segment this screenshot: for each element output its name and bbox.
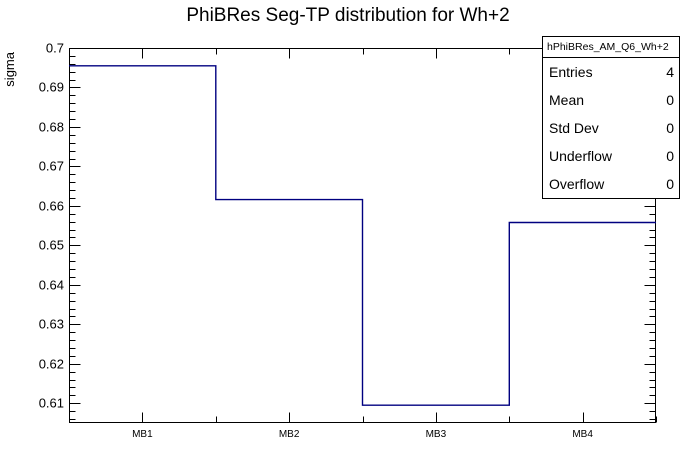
stats-row-value: 0 (666, 92, 674, 108)
stats-row-value: 4 (666, 64, 674, 80)
stats-row-label: Mean (549, 92, 584, 108)
stats-box[interactable]: hPhiBRes_AM_Q6_Wh+2 Entries4Mean0Std Dev… (542, 36, 680, 199)
stats-box-rows: Entries4Mean0Std Dev0Underflow0Overflow0 (543, 58, 679, 198)
x-axis-tick-label: MB1 (132, 429, 153, 440)
stats-row-label: Overflow (549, 176, 604, 192)
stats-row-value: 0 (666, 176, 674, 192)
stats-row: Entries4 (543, 58, 679, 86)
x-axis-tick-label: MB4 (572, 429, 593, 440)
stats-row-label: Underflow (549, 148, 612, 164)
stats-row: Underflow0 (543, 142, 679, 170)
stats-row-label: Std Dev (549, 120, 599, 136)
stats-row: Mean0 (543, 86, 679, 114)
root-canvas: PhiBRes Seg-TP distribution for Wh+2 sig… (0, 0, 696, 472)
stats-row: Std Dev0 (543, 114, 679, 142)
stats-row-value: 0 (666, 148, 674, 164)
x-axis-tick-label: MB2 (279, 429, 300, 440)
stats-row-label: Entries (549, 64, 593, 80)
stats-row: Overflow0 (543, 170, 679, 198)
stats-row-value: 0 (666, 120, 674, 136)
x-axis-tick-label: MB3 (426, 429, 447, 440)
stats-box-title: hPhiBRes_AM_Q6_Wh+2 (543, 37, 679, 58)
